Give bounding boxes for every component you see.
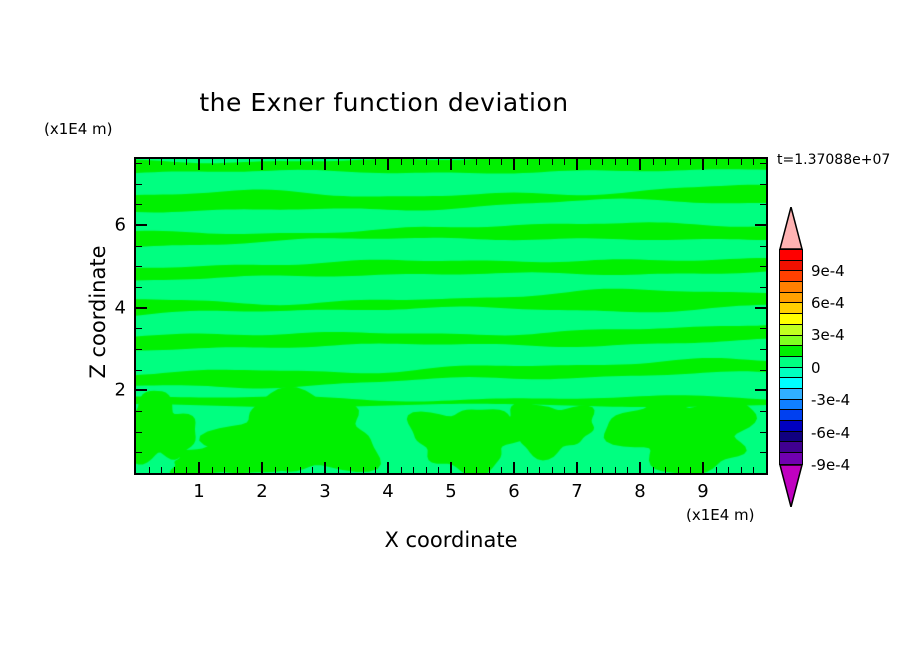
colorbar-swatch — [780, 314, 802, 325]
colorbar-under-arrow-icon — [779, 465, 803, 507]
colorbar-swatch — [780, 336, 802, 347]
x-axis-minor-tick — [489, 159, 490, 165]
colorbar-tick-label: -9e-4 — [811, 456, 850, 474]
contour-field-canvas — [136, 159, 766, 473]
x-axis-minor-tick — [350, 467, 351, 473]
y-axis-minor-tick — [760, 328, 766, 329]
x-axis-minor-tick — [539, 467, 540, 473]
x-axis-minor-tick — [564, 467, 565, 473]
x-tick-label: 6 — [508, 481, 519, 502]
y-axis-tick — [755, 307, 766, 309]
x-axis-tick — [387, 462, 389, 473]
x-axis-minor-tick — [501, 467, 502, 473]
y-axis-minor-tick — [760, 370, 766, 371]
colorbar-swatch — [780, 368, 802, 379]
colorbar-swatch — [780, 357, 802, 368]
x-axis-tick — [198, 159, 200, 170]
x-tick-label: 7 — [571, 481, 582, 502]
y-axis-minor-tick — [760, 266, 766, 267]
x-axis-minor-tick — [476, 159, 477, 165]
y-axis-minor-tick — [136, 204, 142, 205]
x-axis-minor-tick — [590, 467, 591, 473]
colorbar-tick-label: -3e-4 — [811, 391, 850, 409]
x-axis-minor-tick — [375, 467, 376, 473]
x-axis-tick — [576, 159, 578, 170]
x-axis-tick — [639, 462, 641, 473]
colorbar-tick-label: 9e-4 — [811, 262, 845, 280]
x-axis-minor-tick — [690, 159, 691, 165]
x-axis-minor-tick — [464, 159, 465, 165]
colorbar-swatch — [780, 261, 802, 272]
colorbar-tick-label: 0 — [811, 359, 821, 377]
y-axis-minor-tick — [136, 184, 142, 185]
x-axis-minor-tick — [149, 467, 150, 473]
x-axis-minor-tick — [602, 467, 603, 473]
y-axis-tick — [136, 224, 147, 226]
y-axis-unit-label: (x1E4 m) — [44, 120, 113, 138]
y-axis-minor-tick — [136, 328, 142, 329]
x-axis-minor-tick — [312, 467, 313, 473]
y-axis-minor-tick — [760, 349, 766, 350]
x-axis-minor-tick — [237, 467, 238, 473]
y-axis-title: Z coordinate — [86, 202, 110, 422]
x-axis-minor-tick — [741, 467, 742, 473]
x-axis-minor-tick — [716, 159, 717, 165]
x-axis-minor-tick — [678, 159, 679, 165]
colorbar-swatch — [780, 325, 802, 336]
x-axis-minor-tick — [627, 467, 628, 473]
x-axis-minor-tick — [615, 467, 616, 473]
x-axis-minor-tick — [161, 159, 162, 165]
x-axis-minor-tick — [552, 467, 553, 473]
y-axis-minor-tick — [136, 349, 142, 350]
x-axis-minor-tick — [564, 159, 565, 165]
colorbar-tick-label: 6e-4 — [811, 294, 845, 312]
x-axis-minor-tick — [653, 467, 654, 473]
x-tick-label: 8 — [634, 481, 645, 502]
x-axis-tick — [324, 462, 326, 473]
x-axis-minor-tick — [237, 159, 238, 165]
x-axis-minor-tick — [401, 159, 402, 165]
x-axis-tick — [639, 159, 641, 170]
x-axis-minor-tick — [753, 467, 754, 473]
x-tick-label: 3 — [319, 481, 330, 502]
y-axis-minor-tick — [760, 432, 766, 433]
colorbar-over-arrow-icon — [779, 207, 803, 249]
x-axis-minor-tick — [615, 159, 616, 165]
x-axis-minor-tick — [249, 467, 250, 473]
colorbar-tick-label: -6e-4 — [811, 424, 850, 442]
x-axis-tick — [702, 462, 704, 473]
colorbar-swatch — [780, 378, 802, 389]
y-axis-minor-tick — [760, 287, 766, 288]
y-tick-label: 2 — [115, 380, 126, 401]
x-tick-label: 2 — [256, 481, 267, 502]
y-axis-minor-tick — [136, 266, 142, 267]
y-axis-minor-tick — [760, 452, 766, 453]
x-axis-minor-tick — [489, 467, 490, 473]
x-axis-minor-tick — [149, 159, 150, 165]
x-axis-minor-tick — [653, 159, 654, 165]
page-title: the Exner function deviation — [0, 88, 768, 117]
x-axis-minor-tick — [690, 467, 691, 473]
x-axis-minor-tick — [275, 467, 276, 473]
x-tick-label: 9 — [697, 481, 708, 502]
y-axis-minor-tick — [760, 246, 766, 247]
colorbar-swatch — [780, 282, 802, 293]
x-axis-minor-tick — [401, 467, 402, 473]
x-axis-tick — [324, 159, 326, 170]
colorbar-swatch — [780, 389, 802, 400]
x-axis-minor-tick — [426, 159, 427, 165]
y-axis-minor-tick — [136, 473, 142, 474]
x-axis-minor-tick — [174, 159, 175, 165]
colorbar-swatch — [780, 410, 802, 421]
colorbar-swatch — [780, 250, 802, 261]
x-axis-minor-tick — [275, 159, 276, 165]
x-axis-minor-tick — [363, 467, 364, 473]
x-axis-minor-tick — [665, 467, 666, 473]
x-axis-minor-tick — [438, 467, 439, 473]
x-axis-minor-tick — [186, 467, 187, 473]
y-axis-minor-tick — [136, 163, 142, 164]
x-axis-minor-tick — [249, 159, 250, 165]
x-axis-minor-tick — [602, 159, 603, 165]
colorbar-swatch — [780, 421, 802, 432]
x-tick-label: 1 — [193, 481, 204, 502]
x-axis-minor-tick — [212, 159, 213, 165]
x-axis-minor-tick — [426, 467, 427, 473]
y-axis-tick — [755, 224, 766, 226]
x-axis-minor-tick — [753, 159, 754, 165]
x-axis-minor-tick — [716, 467, 717, 473]
x-axis-minor-tick — [413, 467, 414, 473]
x-axis-minor-tick — [527, 159, 528, 165]
y-axis-minor-tick — [760, 184, 766, 185]
x-axis-tick — [513, 462, 515, 473]
x-axis-minor-tick — [312, 159, 313, 165]
x-axis-minor-tick — [161, 467, 162, 473]
colorbar-swatch — [780, 303, 802, 314]
x-axis-tick — [450, 462, 452, 473]
colorbar-swatch — [780, 293, 802, 304]
x-axis-minor-tick — [300, 159, 301, 165]
x-axis-minor-tick — [174, 467, 175, 473]
y-axis-minor-tick — [760, 163, 766, 164]
y-axis-minor-tick — [760, 411, 766, 412]
x-axis-tick — [387, 159, 389, 170]
colorbar-swatch — [780, 453, 802, 464]
y-axis-tick — [136, 307, 147, 309]
x-axis-minor-tick — [186, 159, 187, 165]
x-axis-tick — [576, 462, 578, 473]
x-axis-unit-label: (x1E4 m) — [686, 506, 755, 524]
y-axis-minor-tick — [136, 370, 142, 371]
x-axis-minor-tick — [413, 159, 414, 165]
x-axis-minor-tick — [501, 159, 502, 165]
x-axis-minor-tick — [590, 159, 591, 165]
y-axis-minor-tick — [760, 204, 766, 205]
colorbar-swatch — [780, 271, 802, 282]
y-axis-minor-tick — [760, 473, 766, 474]
colorbar-swatches — [779, 249, 803, 465]
y-axis-minor-tick — [136, 432, 142, 433]
x-axis-minor-tick — [375, 159, 376, 165]
x-axis-minor-tick — [300, 467, 301, 473]
x-axis-tick — [198, 462, 200, 473]
colorbar-swatch — [780, 400, 802, 411]
colorbar-swatch — [780, 442, 802, 453]
colorbar — [779, 207, 803, 507]
x-axis-tick — [261, 159, 263, 170]
colorbar-tick-label: 3e-4 — [811, 326, 845, 344]
x-axis-minor-tick — [338, 159, 339, 165]
x-axis-minor-tick — [678, 467, 679, 473]
time-annotation: t=1.37088e+07 — [777, 152, 890, 168]
x-axis-minor-tick — [287, 467, 288, 473]
y-tick-label: 6 — [115, 215, 126, 236]
y-axis-minor-tick — [136, 452, 142, 453]
x-axis-minor-tick — [527, 467, 528, 473]
y-axis-tick — [136, 389, 147, 391]
x-axis-minor-tick — [665, 159, 666, 165]
x-axis-tick — [450, 159, 452, 170]
x-axis-minor-tick — [338, 467, 339, 473]
x-axis-minor-tick — [539, 159, 540, 165]
x-axis-minor-tick — [741, 159, 742, 165]
x-axis-minor-tick — [438, 159, 439, 165]
x-axis-minor-tick — [224, 467, 225, 473]
x-axis-minor-tick — [287, 159, 288, 165]
x-axis-minor-tick — [552, 159, 553, 165]
y-axis-minor-tick — [136, 411, 142, 412]
x-axis-minor-tick — [224, 159, 225, 165]
y-tick-label: 4 — [115, 297, 126, 318]
x-axis-minor-tick — [350, 159, 351, 165]
x-axis-title: X coordinate — [134, 528, 768, 552]
x-axis-tick — [513, 159, 515, 170]
x-axis-minor-tick — [476, 467, 477, 473]
x-axis-tick — [702, 159, 704, 170]
y-axis-tick — [755, 389, 766, 391]
x-axis-minor-tick — [627, 159, 628, 165]
x-axis-minor-tick — [728, 159, 729, 165]
x-axis-tick — [261, 462, 263, 473]
y-axis-minor-tick — [136, 246, 142, 247]
x-axis-minor-tick — [728, 467, 729, 473]
x-tick-label: 4 — [382, 481, 393, 502]
x-axis-minor-tick — [212, 467, 213, 473]
x-axis-minor-tick — [363, 159, 364, 165]
y-axis-minor-tick — [136, 287, 142, 288]
x-axis-minor-tick — [464, 467, 465, 473]
x-tick-label: 5 — [445, 481, 456, 502]
colorbar-swatch — [780, 432, 802, 443]
contour-plot-area — [134, 157, 768, 475]
colorbar-swatch — [780, 346, 802, 357]
